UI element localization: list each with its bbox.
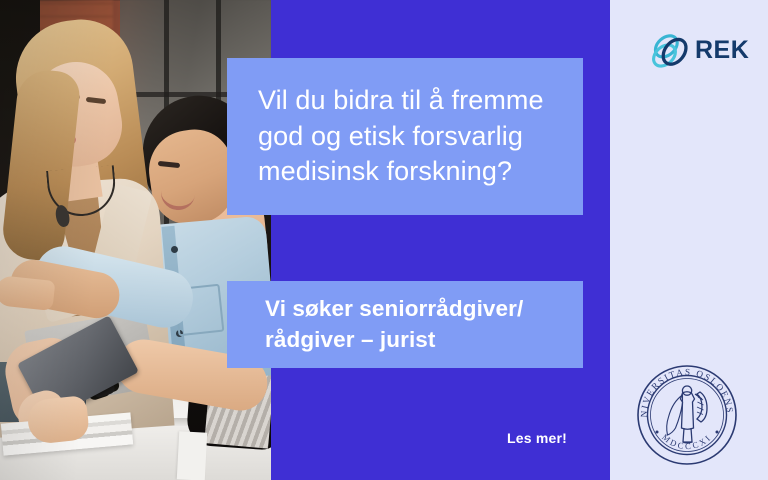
recruitment-banner: Vil du bidra til å fremme god og etisk f… [0,0,768,480]
interlocking-rings-icon [648,28,692,72]
pointing-hand [0,275,55,311]
job-title-box: Vi søker seniorrådgiver/ rådgiver – juri… [227,281,583,368]
apollo-figure [667,386,707,443]
job-title-text: Vi søker seniorrådgiver/ rådgiver – juri… [227,294,537,355]
headline-text: Vil du bidra til å fremme god og etisk f… [227,83,568,190]
seal-top-text: UNIVERSITAS OSLOENSIS [634,362,735,418]
shirt-button [171,246,178,253]
read-more-link[interactable]: Les mer! [0,430,583,446]
headline-box: Vil du bidra til å fremme god og etisk f… [227,58,583,215]
rek-logo[interactable]: REK [648,26,748,74]
rek-wordmark: REK [695,38,749,63]
uio-seal-icon: UNIVERSITAS OSLOENSIS MDCCCXI [634,362,740,468]
